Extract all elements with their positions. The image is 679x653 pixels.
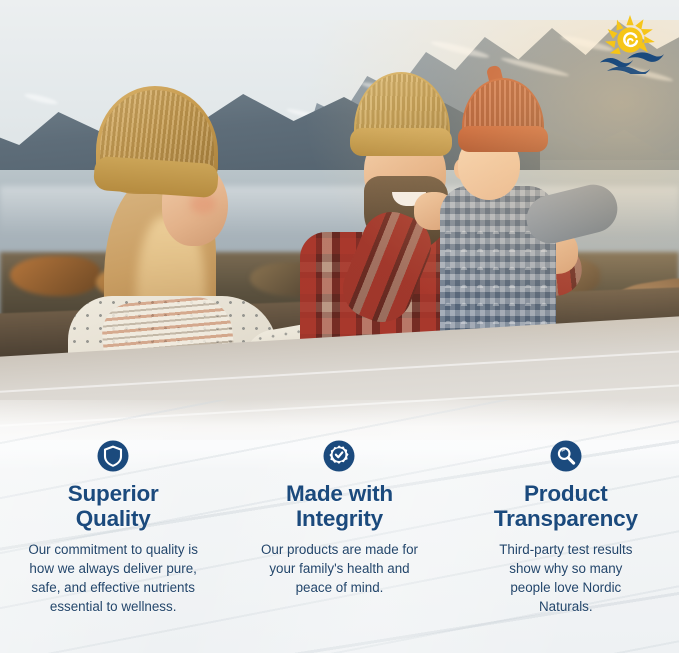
feature-column-superior-quality: SuperiorQuality Our commitment to qualit… <box>0 440 226 617</box>
feature-title-line-1: Superior <box>68 481 159 506</box>
man-beanie-brim <box>350 128 452 156</box>
hero-photo <box>0 0 679 440</box>
feature-column-made-with-integrity: Made withIntegrity Our products are made… <box>226 440 452 597</box>
feature-description: Third-party test results show why so man… <box>490 540 642 616</box>
shield-icon <box>97 440 129 472</box>
baby-beanie-brim <box>458 126 548 152</box>
verified-badge-check-icon <box>323 440 355 472</box>
wave-icon <box>600 52 664 74</box>
nordic-naturals-sun-wave-logo <box>597 14 665 74</box>
feature-title-line-2: Transparency <box>494 506 638 531</box>
feature-title-line-1: Product <box>524 481 608 506</box>
feature-title: Made withIntegrity <box>259 481 419 531</box>
feature-icon-container <box>238 440 440 472</box>
feature-columns: SuperiorQuality Our commitment to qualit… <box>0 440 679 617</box>
shore-rock <box>10 256 100 296</box>
feature-icon-container <box>12 440 214 472</box>
feature-description: Our products are made for your family's … <box>251 540 427 597</box>
feature-title: ProductTransparency <box>482 481 650 531</box>
sun-icon <box>605 15 655 54</box>
feature-column-product-transparency: ProductTransparency Third-party test res… <box>453 440 679 617</box>
feature-description: Our commitment to quality is how we alwa… <box>15 540 211 616</box>
product-feature-banner: SuperiorQuality Our commitment to qualit… <box>0 0 679 653</box>
feature-title-line-1: Made with <box>286 481 393 506</box>
feature-title-line-2: Quality <box>76 506 151 531</box>
magnifying-glass-icon <box>550 440 582 472</box>
feature-icon-container <box>465 440 667 472</box>
feature-title-line-2: Integrity <box>296 506 383 531</box>
feature-title: SuperiorQuality <box>28 481 198 531</box>
